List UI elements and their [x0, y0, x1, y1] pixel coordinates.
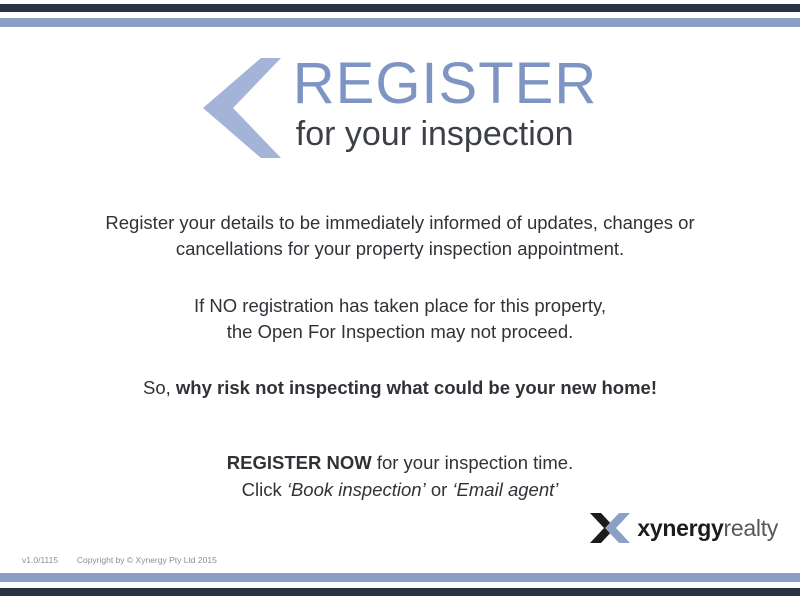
prompt-emphasis: why risk not inspecting what could be yo… [176, 377, 657, 398]
bottom-dark-rule [0, 588, 800, 596]
intro-paragraph: Register your details to be immediately … [0, 210, 800, 263]
brand-wordmark: xynergyrealty [637, 515, 778, 542]
bottom-blue-rule [0, 573, 800, 582]
prompt-lead: So, [143, 377, 171, 398]
copyright-label: Copyright by © Xynergy Pty Ltd 2015 [77, 555, 217, 565]
cta-line-1: REGISTER NOW for your inspection time. [0, 450, 800, 476]
top-dark-rule [0, 4, 800, 12]
top-border-bars [0, 0, 800, 27]
brand-logo: xynergyrealty [590, 513, 778, 543]
warning-paragraph: If NO registration has taken place for t… [0, 293, 800, 346]
chevron-left-icon [203, 58, 281, 158]
version-label: v1.0/1115 [22, 555, 58, 565]
brand-name-primary: xynergy [637, 515, 723, 541]
intro-line-1: Register your details to be immediately … [0, 210, 800, 236]
cta-line-1-rest: for your inspection time. [377, 452, 573, 473]
warning-line-1: If NO registration has taken place for t… [0, 293, 800, 319]
brand-name-secondary: realty [724, 515, 778, 541]
masthead-text: REGISTER for your inspection [293, 56, 598, 154]
call-to-action: REGISTER NOW for your inspection time. C… [0, 450, 800, 503]
legal-line: v1.0/1115 Copyright by © Xynergy Pty Ltd… [22, 555, 217, 565]
page-subtitle: for your inspection [296, 115, 574, 154]
top-blue-rule [0, 18, 800, 27]
cta-register-now: REGISTER NOW [227, 452, 372, 473]
bottom-spacer [0, 596, 800, 600]
xynergy-x-mark-icon [590, 513, 630, 543]
bottom-border-bars [0, 573, 800, 600]
prompt-paragraph: So, why risk not inspecting what could b… [0, 375, 800, 401]
page-content: REGISTER for your inspection Register yo… [0, 27, 800, 573]
footer: xynergyrealty v1.0/1115 Copyright by © X… [0, 497, 800, 573]
warning-line-2: the Open For Inspection may not proceed. [0, 319, 800, 345]
masthead: REGISTER for your inspection [0, 27, 800, 158]
page-title: REGISTER [293, 56, 598, 113]
intro-line-2: cancellations for your property inspecti… [0, 236, 800, 262]
